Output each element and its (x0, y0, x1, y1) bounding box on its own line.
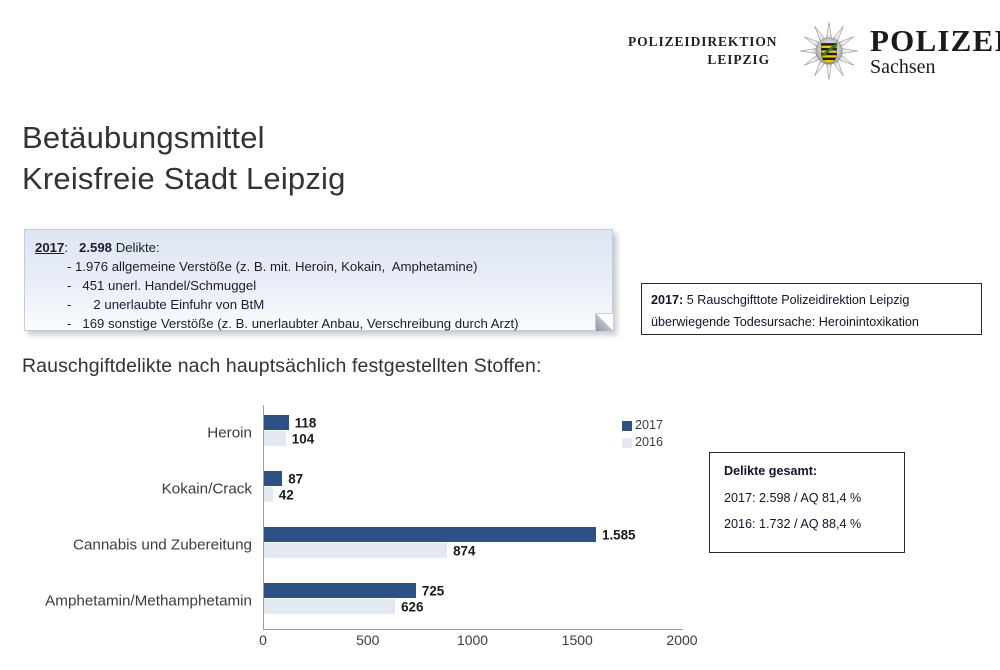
offences-year-separator: : (64, 240, 68, 255)
chart-legend-label: 2017 (635, 417, 663, 434)
legend-swatch-icon (622, 421, 632, 431)
chart-x-tick: 1500 (562, 632, 593, 648)
chart-bar-2016: 626 (264, 599, 395, 614)
agency-name-line1: POLIZEIDIREKTION (628, 33, 770, 51)
chart-bar-2017: 87 (264, 471, 282, 486)
agency-name-line2: LEIPZIG (628, 51, 770, 69)
chart-category-group: Heroin 118 104 (264, 405, 683, 461)
chart-x-tick: 2000 (666, 632, 697, 648)
chart-bar-value: 104 (292, 431, 314, 446)
polizei-star-icon (799, 21, 859, 81)
chart-bar-2017: 118 (264, 415, 289, 430)
chart-category-label: Amphetamin/Methamphetamin (45, 593, 252, 610)
offences-total-row: 2017: 2.598 Delikte: (35, 238, 602, 257)
header-logo: POLIZEIDIREKTION LEIPZIG (628, 20, 988, 82)
chart-x-tick: 500 (356, 632, 379, 648)
chart-x-tick: 0 (259, 632, 267, 648)
offences-item: - 169 sonstige Verstöße (z. B. unerlaubt… (35, 314, 602, 333)
offences-total-suffix: Delikte: (116, 240, 160, 255)
totals-row: 2017: 2.598 / AQ 81,4 % (724, 491, 904, 505)
chart-bar-2016: 42 (264, 487, 273, 502)
drug-deaths-box: 2017: 5 Rauschgifttote Polizeidirektion … (641, 283, 982, 335)
chart-bar-2016: 104 (264, 431, 286, 446)
drug-deaths-line1: 2017: 5 Rauschgifttote Polizeidirektion … (651, 290, 972, 312)
chart-bar-2017: 725 (264, 583, 416, 598)
chart-x-axis: 0 500 1000 1500 2000 (263, 632, 682, 654)
chart-category-group: Cannabis und Zubereitung 1.585 874 (264, 517, 683, 573)
chart-legend-item: 2017 (622, 417, 663, 434)
chart-category-label: Cannabis und Zubereitung (73, 537, 252, 554)
offences-item: - 451 unerl. Handel/Schmuggel (35, 276, 602, 295)
chart-category-group: Kokain/Crack 87 42 (264, 461, 683, 517)
drug-deaths-line2: überwiegende Todesursache: Heroinintoxik… (651, 312, 972, 334)
totals-row: 2016: 1.732 / AQ 88,4 % (724, 517, 904, 531)
drug-deaths-text: 5 Rauschgifttote Polizeidirektion Leipzi… (687, 293, 910, 307)
chart-plot-area: Heroin 118 104 Kokain/Crack 87 42 Cannab… (263, 405, 683, 630)
legend-swatch-icon (622, 438, 632, 448)
chart-bar-value: 1.585 (602, 527, 636, 542)
chart-bar-value: 725 (422, 583, 444, 598)
offences-item: - 2 unerlaubte Einfuhr von BtM (35, 295, 602, 314)
drug-offences-bar-chart: Heroin 118 104 Kokain/Crack 87 42 Cannab… (0, 400, 700, 662)
offences-total: 2.598 (79, 240, 112, 255)
chart-bar-2016: 874 (264, 543, 447, 558)
page-title-line1: Betäubungsmittel (22, 117, 346, 158)
polizei-wordmark-sub: Sachsen (870, 57, 1000, 77)
chart-bar-2017: 1.585 (264, 527, 596, 542)
chart-bar-value: 626 (401, 599, 423, 614)
polizei-wordmark: POLIZEI Sachsen (870, 25, 1000, 77)
offences-year: 2017 (35, 240, 64, 255)
agency-name: POLIZEIDIREKTION LEIPZIG (628, 33, 770, 69)
page-title-line2: Kreisfreie Stadt Leipzig (22, 158, 346, 199)
drug-deaths-year: 2017: (651, 293, 683, 307)
chart-category-label: Heroin (207, 425, 252, 442)
chart-category-group: Amphetamin/Methamphetamin 725 626 (264, 573, 683, 629)
page-title: Betäubungsmittel Kreisfreie Stadt Leipzi… (22, 117, 346, 199)
chart-x-tick: 1000 (457, 632, 488, 648)
offences-breakdown-box: 2017: 2.598 Delikte: - 1.976 allgemeine … (24, 229, 613, 331)
chart-legend-item: 2016 (622, 434, 663, 451)
chart-legend: 2017 2016 (622, 417, 663, 451)
chart-bar-value: 42 (279, 487, 294, 502)
chart-category-label: Kokain/Crack (162, 481, 252, 498)
chart-bar-value: 874 (453, 543, 475, 558)
offences-item: - 1.976 allgemeine Verstöße (z. B. mit. … (35, 257, 602, 276)
polizei-wordmark-main: POLIZEI (870, 25, 1000, 56)
chart-legend-label: 2016 (635, 434, 663, 451)
totals-title: Delikte gesamt: (724, 464, 904, 478)
chart-bar-value: 118 (295, 415, 317, 430)
chart-heading: Rauschgiftdelikte nach hauptsächlich fes… (22, 355, 541, 378)
chart-bar-value: 87 (288, 471, 303, 486)
totals-summary-box: Delikte gesamt: 2017: 2.598 / AQ 81,4 % … (709, 452, 905, 553)
